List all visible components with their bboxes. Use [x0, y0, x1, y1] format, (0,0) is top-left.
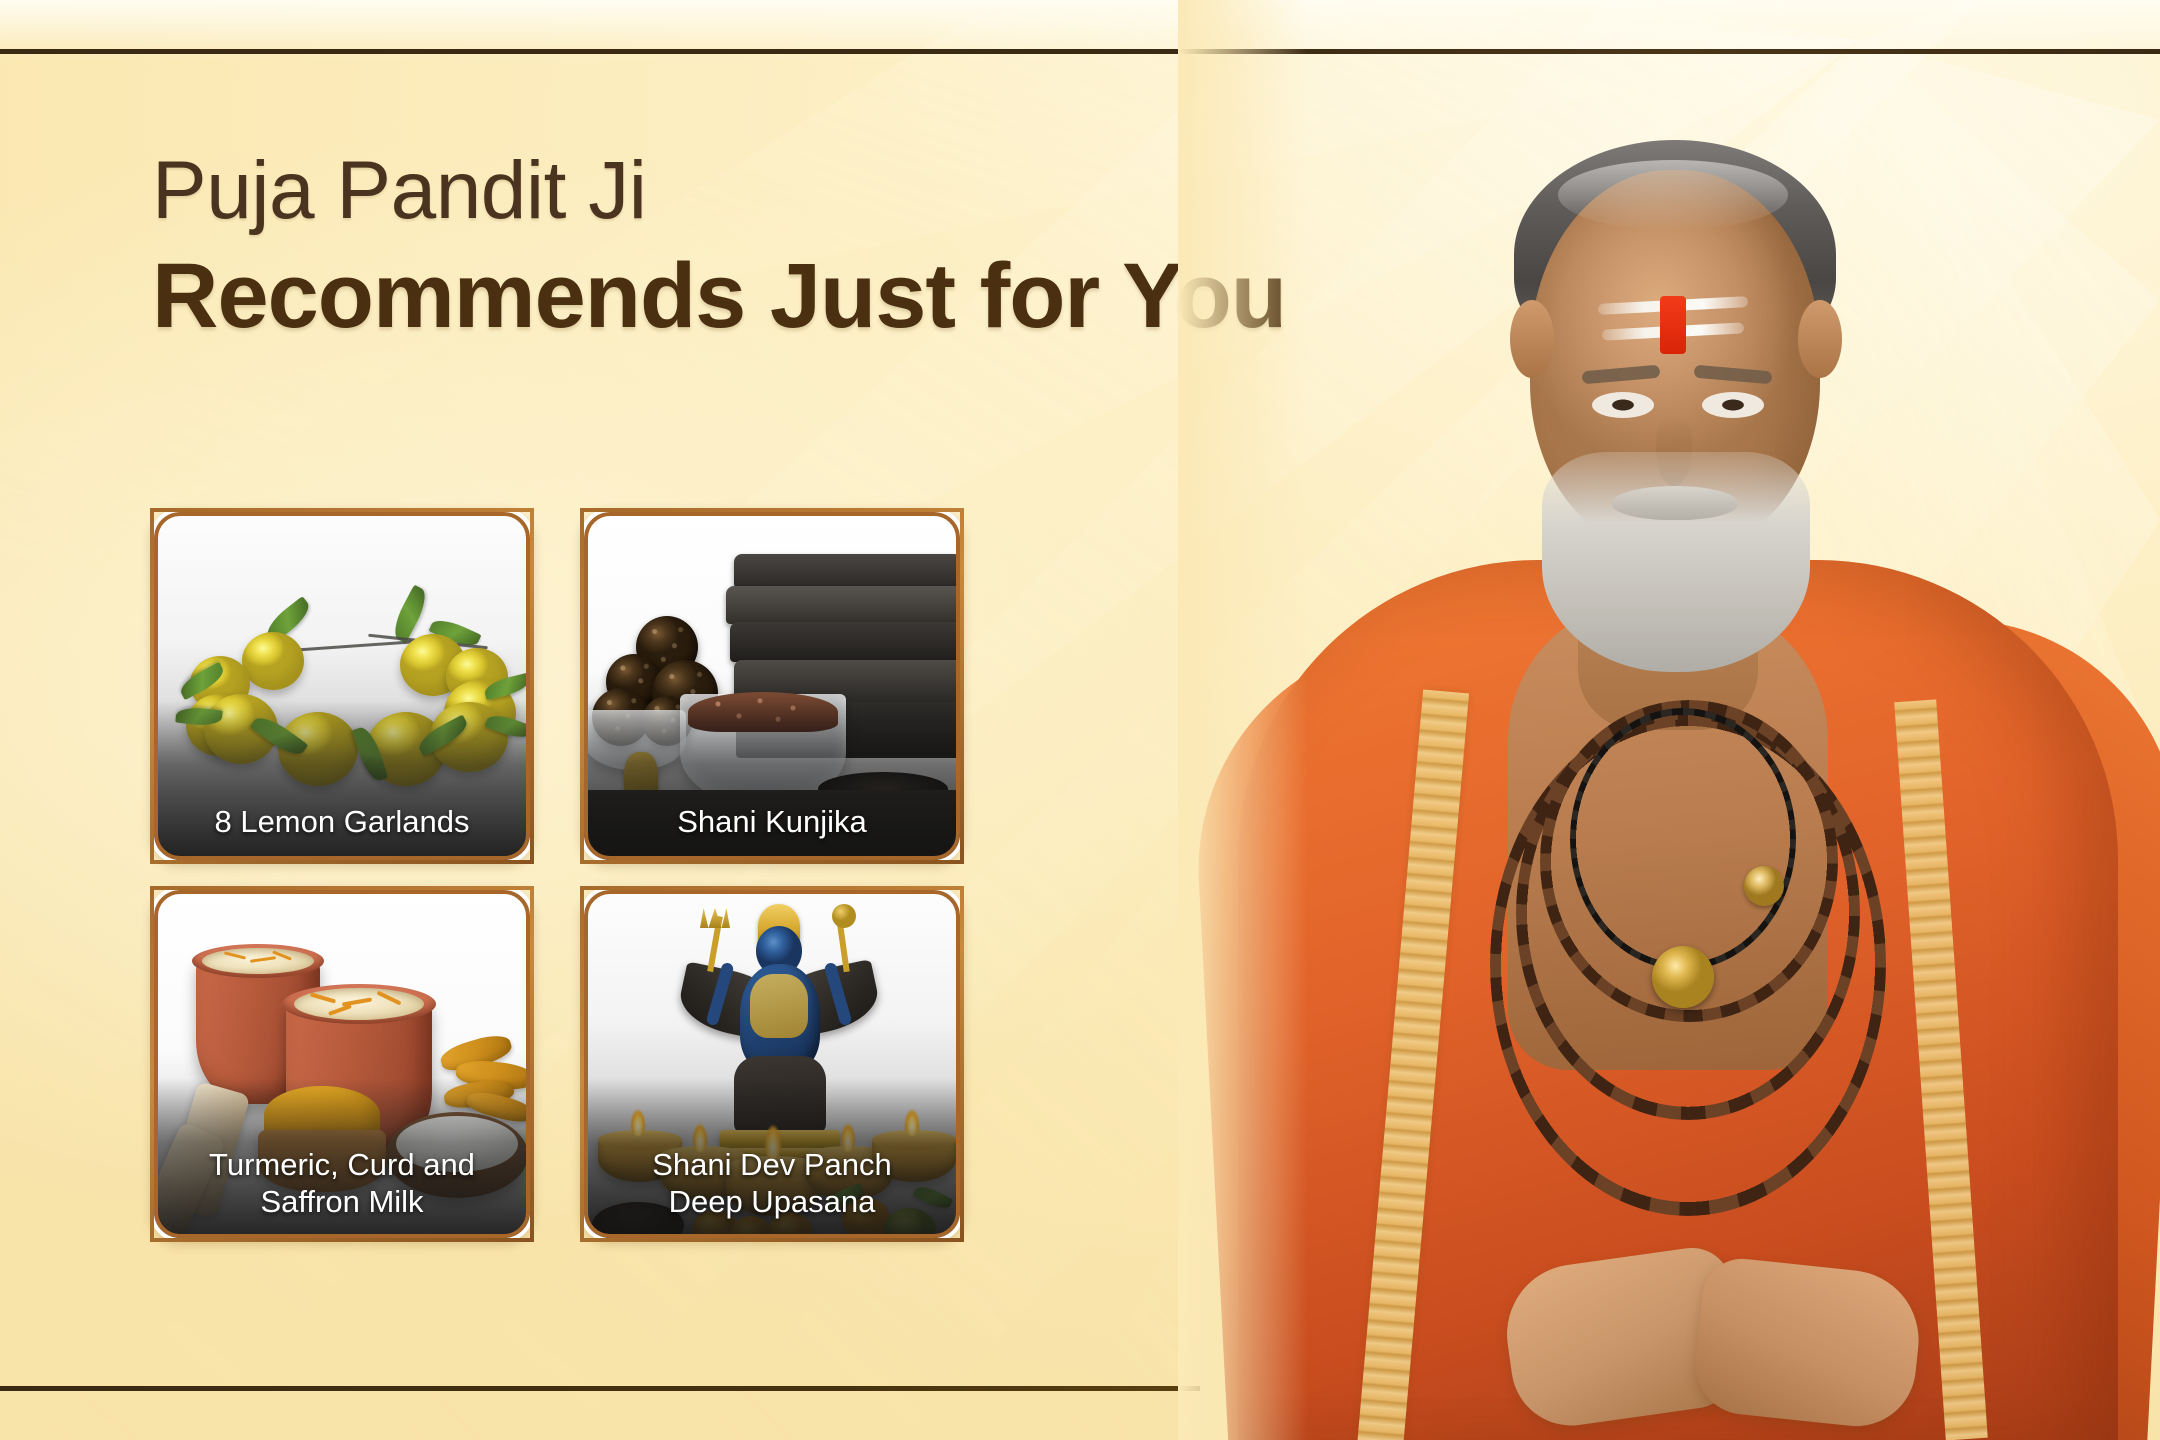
product-caption-line-1: Turmeric, Curd and: [164, 1146, 520, 1183]
eye-left: [1592, 392, 1654, 418]
product-card-turmeric-curd-saffron-milk[interactable]: Turmeric, Curd and Saffron Milk: [150, 886, 534, 1242]
product-caption-line-2: Deep Upasana: [594, 1183, 950, 1220]
product-card-shani-kunjika[interactable]: Shani Kunjika: [580, 508, 964, 864]
product-caption-line-1: Shani Dev Panch: [594, 1146, 950, 1183]
product-caption: Shani Kunjika: [584, 803, 960, 840]
beard: [1542, 452, 1810, 672]
red-tilak-mark: [1660, 296, 1686, 354]
bottom-divider-rule: [0, 1386, 1200, 1391]
product-caption: Turmeric, Curd and Saffron Milk: [154, 1146, 530, 1220]
mustache: [1612, 486, 1738, 520]
product-caption-line-2: Saffron Milk: [164, 1183, 520, 1220]
product-card-lemon-garlands[interactable]: 8 Lemon Garlands: [150, 508, 534, 864]
product-card-grid: 8 Lemon Garlands: [150, 508, 964, 1242]
gold-coin-locket: [1744, 866, 1784, 906]
ear-right: [1798, 300, 1842, 378]
bead-necklace-thin: [1570, 708, 1796, 970]
product-card-shani-dev-panch-deep-upasana[interactable]: Shani Dev Panch Deep Upasana: [580, 886, 964, 1242]
hair-highlight: [1558, 160, 1788, 230]
banner-root: Puja Pandit Ji Recommends Just for You: [0, 0, 2160, 1440]
figure-left-edge-blend: [1178, 0, 1308, 1440]
product-caption: 8 Lemon Garlands: [154, 803, 530, 840]
pandit-portrait: [1178, 0, 2160, 1440]
eye-right: [1702, 392, 1764, 418]
gold-pendant: [1652, 946, 1714, 1008]
product-caption: Shani Dev Panch Deep Upasana: [584, 1146, 960, 1220]
ear-left: [1510, 300, 1554, 378]
